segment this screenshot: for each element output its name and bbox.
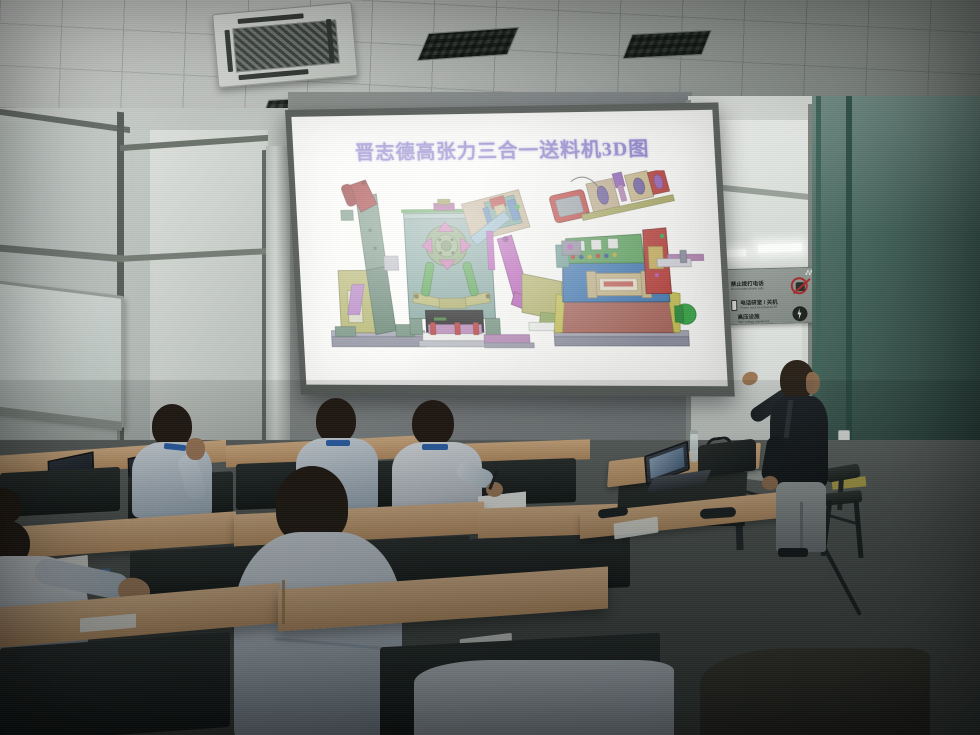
safety-sign: ▞▞ 禁止拨打电话 Do not make phone calls 电话研室 /… bbox=[721, 267, 818, 325]
corridor-ceiling-light bbox=[758, 243, 802, 253]
wristwatch bbox=[764, 468, 780, 475]
screen-frame: 晋志德高张力三合一送料机3D图 bbox=[285, 102, 735, 396]
torso bbox=[414, 660, 674, 735]
presenter-hand bbox=[762, 476, 778, 490]
sign-line-2-en: Phone must be powered off bbox=[740, 306, 778, 310]
torso bbox=[700, 648, 930, 735]
attendee-foreground-far-right bbox=[700, 648, 930, 735]
trouser-seam bbox=[800, 502, 803, 552]
sign-line-1-en: Do not make phone calls bbox=[731, 287, 764, 291]
hand bbox=[486, 482, 503, 497]
water-bottle bbox=[690, 434, 698, 462]
lanyard bbox=[326, 440, 350, 446]
no-phone-icon bbox=[791, 277, 808, 294]
attendee-foreground-right bbox=[414, 660, 674, 735]
attendee-back-right bbox=[392, 400, 502, 515]
sign-line-3-en: High voltage equipment bbox=[738, 320, 770, 324]
head bbox=[412, 400, 454, 446]
corner-pillar bbox=[266, 146, 290, 466]
head bbox=[316, 398, 356, 443]
chair-row-front[interactable] bbox=[0, 632, 230, 735]
torso bbox=[234, 532, 402, 735]
attendee-back-left bbox=[124, 404, 234, 514]
training-room-photo: ▞▞ 禁止拨打电话 Do not make phone calls 电话研室 /… bbox=[0, 0, 980, 735]
table-seam bbox=[282, 580, 285, 624]
presenter bbox=[752, 352, 872, 552]
head bbox=[0, 488, 22, 524]
screen-surface: 晋志德高张力三合一送料机3D图 bbox=[291, 110, 727, 386]
lanyard bbox=[422, 444, 448, 450]
high-voltage-icon bbox=[792, 306, 807, 321]
whiteboard bbox=[0, 280, 124, 428]
presenter-face bbox=[806, 372, 820, 394]
cad-assembly-drawing bbox=[313, 170, 721, 366]
hand bbox=[186, 438, 205, 460]
slide-title: 晋志德高张力三合一送料机3D图 bbox=[293, 132, 716, 165]
projection-screen[interactable]: 晋志德高张力三合一送料机3D图 bbox=[285, 102, 735, 396]
presenter-shoe bbox=[778, 548, 808, 557]
phone-icon bbox=[731, 300, 737, 311]
